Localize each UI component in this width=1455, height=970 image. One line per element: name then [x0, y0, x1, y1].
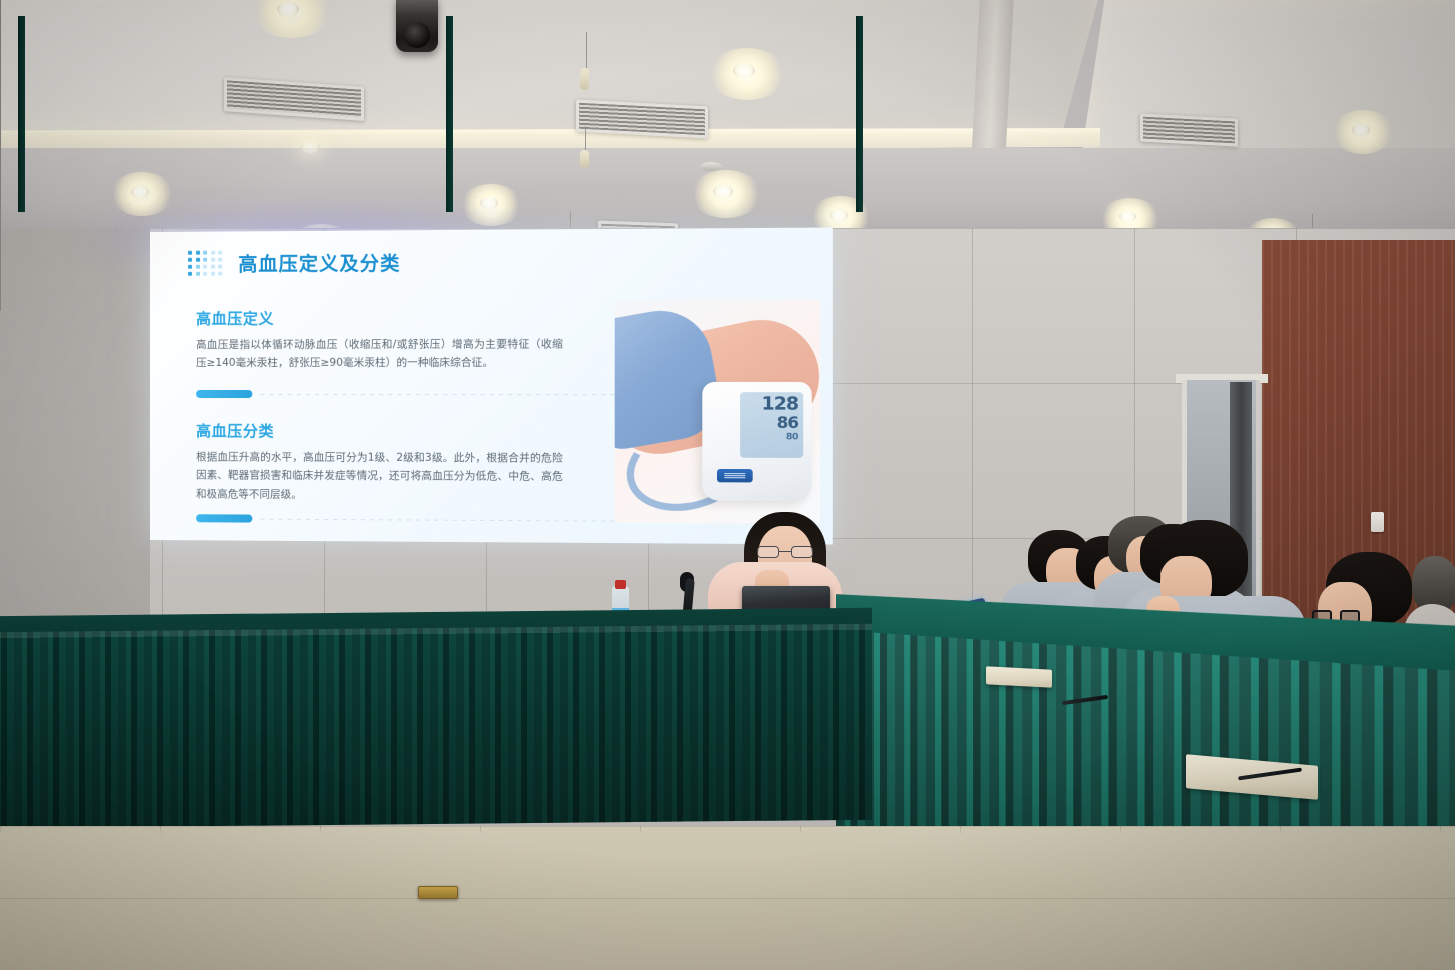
- table-seam: [446, 16, 453, 212]
- section-heading: 高血压分类: [196, 420, 563, 442]
- slide-section-classification: 高血压分类 根据血压升高的水平，高血压可分为1级、2级和3级。此外，根据合并的危…: [196, 420, 563, 505]
- photo-scene: 高血压定义及分类 高血压定义 高血压是指以体循环动脉血压（收缩压和/或舒张压）增…: [0, 0, 1455, 970]
- presentation-slide: 高血压定义及分类 高血压定义 高血压是指以体循环动脉血压（收缩压和/或舒张压）增…: [150, 228, 833, 545]
- table-seam: [18, 16, 25, 212]
- ceiling-projector: [396, 0, 438, 52]
- diastolic-reading: 86: [745, 414, 798, 433]
- eyeglasses-icon: [757, 546, 813, 558]
- systolic-reading: 128: [745, 395, 798, 414]
- bp-start-button[interactable]: [717, 469, 753, 482]
- ceiling-wire: [586, 32, 587, 68]
- ceiling-wire: [585, 126, 586, 152]
- downlight-icon: [1352, 124, 1370, 136]
- section-heading: 高血压定义: [196, 307, 563, 329]
- pulse-reading: 80: [745, 433, 798, 444]
- section-body: 根据血压升高的水平，高血压可分为1级、2级和3级。此外，根据合并的危险因素、靶器…: [196, 448, 563, 505]
- presenter-table: [0, 612, 872, 844]
- bp-lcd-screen: 128 86 80: [740, 392, 803, 458]
- wall-left-section: [0, 228, 150, 648]
- bottle-cap: [615, 580, 626, 589]
- air-vent-icon: [576, 100, 708, 139]
- downlight-icon: [131, 186, 149, 198]
- screen-left-edge: [0, 0, 1, 311]
- smoke-detector-icon: [700, 162, 722, 171]
- slide-photo-bp-monitor: 128 86 80: [615, 300, 820, 524]
- downlight-icon: [733, 64, 755, 78]
- downlight-icon: [277, 2, 299, 16]
- floor: [0, 826, 1455, 970]
- ceiling-coffer-left: [0, 0, 1105, 142]
- pendant-light-icon: [580, 150, 589, 168]
- pendant-light-icon: [580, 68, 589, 90]
- section-body: 高血压是指以体循环动脉血压（收缩压和/或舒张压）增高为主要特征（收缩压≥140毫…: [196, 335, 563, 373]
- notebook[interactable]: [986, 666, 1052, 687]
- downlight-icon: [300, 142, 320, 153]
- projection-screen: 高血压定义及分类 高血压定义 高血压是指以体循环动脉血压（收缩压和/或舒张压）增…: [150, 228, 833, 545]
- bp-monitor-device: 128 86 80: [702, 382, 811, 501]
- slide-title: 高血压定义及分类: [238, 249, 400, 277]
- floor-tile-seams: [0, 826, 1455, 970]
- dot-grid-icon: [188, 250, 224, 276]
- slide-section-definition: 高血压定义 高血压是指以体循环动脉血压（收缩压和/或舒张压）增高为主要特征（收缩…: [196, 307, 563, 373]
- accent-pill: [196, 390, 252, 398]
- slide-title-row: 高血压定义及分类: [188, 249, 400, 277]
- light-switch[interactable]: [1371, 512, 1384, 532]
- air-vent-icon: [1140, 113, 1238, 146]
- accent-pill: [196, 514, 252, 522]
- table-skirt-front: [0, 624, 872, 828]
- table-seam: [856, 16, 863, 212]
- downlight-icon: [1119, 211, 1136, 222]
- downlight-icon: [713, 185, 733, 198]
- floor-outlet: [418, 886, 458, 899]
- downlight-icon: [830, 209, 848, 221]
